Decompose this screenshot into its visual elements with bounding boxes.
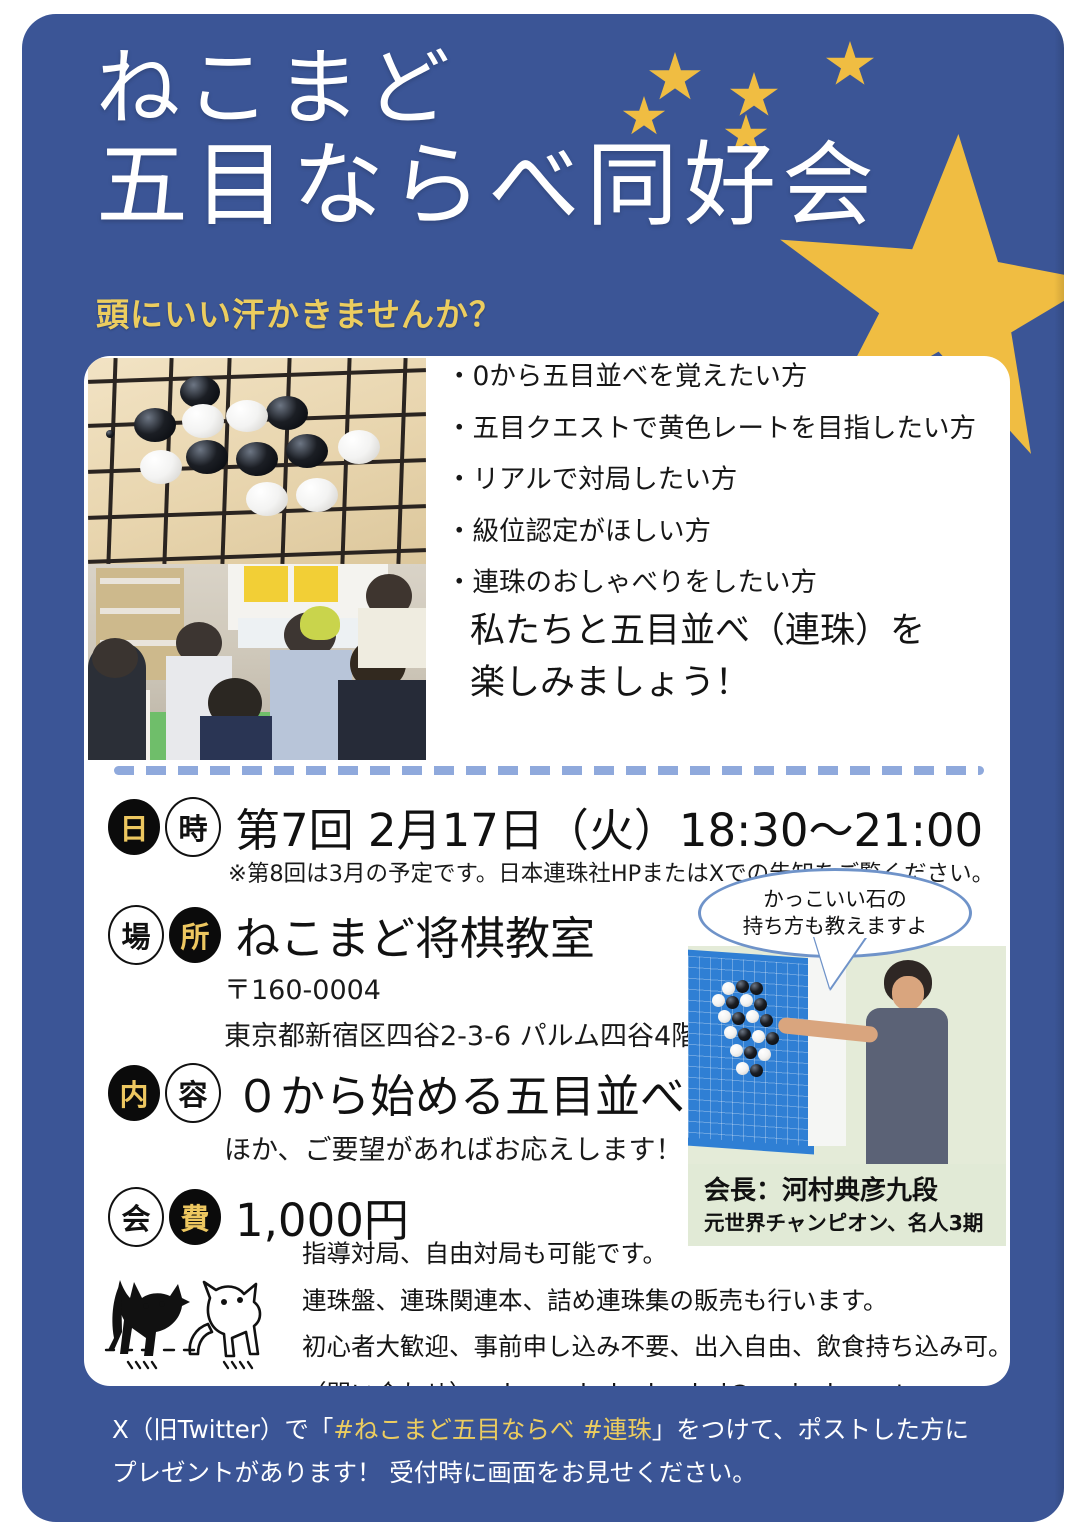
badge-content-1: 内 [108,1065,160,1121]
note-item: （問い合わせ）nekomadodoukoukai@renjusha.net [302,1382,1010,1387]
title-line-2: 五目ならべ同好会 [96,137,880,235]
photo-club-meeting [88,564,426,760]
list-item: ・五目クエストで黄色レートを目指したい方 [446,416,1002,443]
go-board-surface [88,358,426,564]
chairman-block: 会長：河村典彦九段 元世界チャンピオン、名人3期 [688,946,1006,1246]
footer-text-b: 」をつけて、ポストした方に [652,1415,969,1444]
notes-list: 指導対局、自由対局も可能です。 連珠盤、連珠関連本、詰め連珠集の販売も行います。… [302,1242,1010,1386]
badge-date-1: 日 [108,799,160,855]
note-item: 指導対局、自由対局も可能です。 [302,1242,1010,1267]
blue-background-panel: ・0から五目並べを覚えたい方 ・五目クエストで黄色レートを目指したい方 ・リアル… [22,14,1064,1522]
photo-go-board [88,358,426,564]
list-item: ・級位認定がほしい方 [446,519,1002,546]
content-note: ほか、ご要望があればお応えします！ [224,1128,682,1167]
footer-note: X（旧Twitter）で「#ねこまど五目ならべ #連珠」をつけて、ポストした方に… [112,1418,992,1503]
list-item: ・0から五目並べを覚えたい方 [446,364,1002,391]
datetime-value: 第7回 2月17日（火）18:30〜21:00 [235,794,983,859]
title-line-1: ねこまど [96,44,880,133]
venue-address: 東京都新宿区四谷2-3-6 パルム四谷4階 [224,1014,698,1053]
speech-bubble-tail [814,936,866,988]
footer-line-2: プレゼントがあります！ 受付時に画面をお見せください。 [112,1461,992,1486]
cats-icon [98,1258,288,1370]
badge-fee-1: 会 [108,1187,164,1247]
poster-root: ・0から五目並べを覚えたい方 ・五目クエストで黄色レートを目指したい方 ・リアル… [0,0,1086,1536]
audience-bullet-list: ・0から五目並べを覚えたい方 ・五目クエストで黄色レートを目指したい方 ・リアル… [446,364,1002,622]
venue-value: ねこまど将棋教室 [235,902,595,967]
footer-text-a: X（旧Twitter）で「 [112,1415,333,1444]
badge-fee-2: 費 [169,1189,221,1245]
info-row-venue: 場 所 ねこまど将棋教室 [108,902,595,967]
invite-line-1: 私たちと五目並べ（連珠）を [470,606,1010,658]
note-item: 連珠盤、連珠関連本、詰め連珠集の販売も行います。 [302,1289,1010,1314]
footer-line-1: X（旧Twitter）で「#ねこまど五目ならべ #連珠」をつけて、ポストした方に [112,1418,992,1443]
invite-text: 私たちと五目並べ（連珠）を 楽しみましょう！ [470,606,1010,710]
content-card: ・0から五目並べを覚えたい方 ・五目クエストで黄色レートを目指したい方 ・リアル… [84,356,1010,1386]
info-row-datetime: 日 時 第7回 2月17日（火）18:30〜21:00 [108,794,983,859]
footer-hashtags: #ねこまど五目ならべ #連珠 [333,1415,651,1444]
list-item: ・連珠のおしゃべりをしたい方 [446,570,1002,597]
chairman-caption: 会長：河村典彦九段 元世界チャンピオン、名人3期 [688,1164,1006,1246]
tagline: 頭にいい汗かきませんか？ [96,288,503,336]
cat-illustration [98,1258,288,1370]
list-item: ・リアルで対局したい方 [446,467,1002,494]
invite-line-2: 楽しみましょう！ [470,658,1010,710]
info-row-content: 内 容 ０から始める五目並べ [108,1060,685,1125]
badge-date-2: 時 [165,797,221,857]
page-title: ねこまど 五目ならべ同好会 [96,44,880,235]
dashed-divider [114,766,984,775]
chairman-titles: 元世界チャンピオン、名人3期 [704,1206,983,1236]
badge-venue-2: 所 [169,907,221,963]
content-value: ０から始める五目並べ [235,1060,685,1125]
bubble-line-1: かっこいい石の [763,886,907,913]
meeting-room-scene [88,564,426,760]
note-item: 初心者大歓迎、事前申し込み不要、出入自由、飲食持ち込み可。 [302,1335,1010,1360]
badge-content-2: 容 [165,1063,221,1123]
venue-postal: 〒160-0004 [224,968,381,1007]
chairman-name: 会長：河村典彦九段 [704,1170,938,1207]
badge-venue-1: 場 [108,905,164,965]
